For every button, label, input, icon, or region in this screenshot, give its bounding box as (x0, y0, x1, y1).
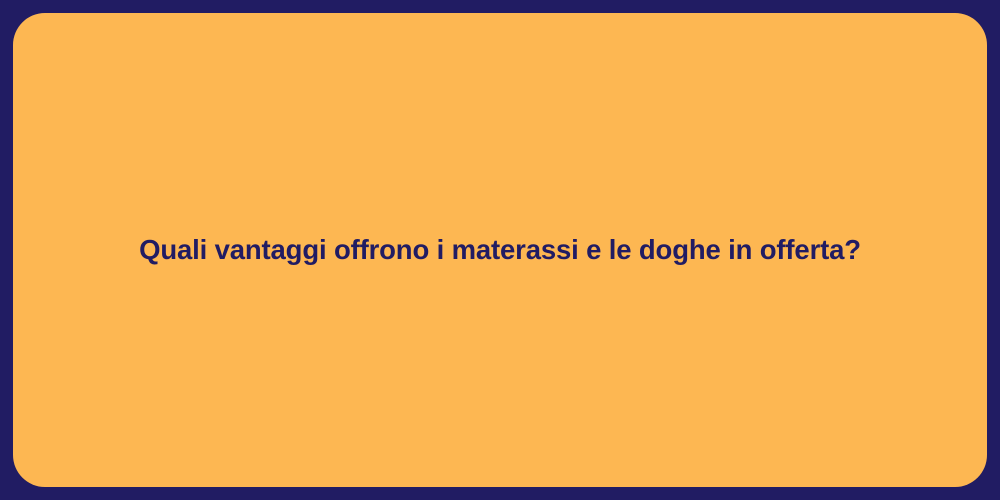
banner-card: Quali vantaggi offrono i materassi e le … (13, 13, 987, 487)
banner-headline: Quali vantaggi offrono i materassi e le … (13, 233, 987, 267)
banner-root: Quali vantaggi offrono i materassi e le … (0, 0, 1000, 500)
